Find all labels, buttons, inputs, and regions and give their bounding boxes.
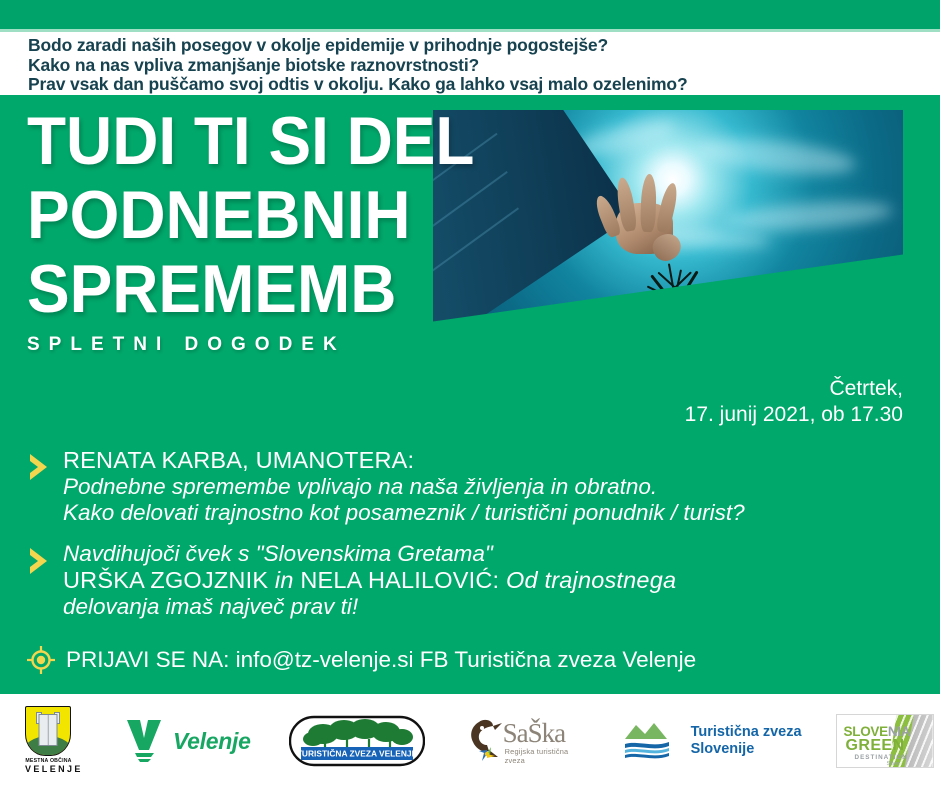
program-entry-1-desc-2: Kako delovati trajnostno kot posameznik …	[63, 500, 917, 527]
logo-turisticna-zveza-velenje: TURISTIČNA ZVEZA VELENJE	[289, 715, 425, 767]
speaker-name-1: URŠKA ZGOJZNIK	[63, 567, 268, 593]
headline-line-3: SPREMEMB	[27, 252, 403, 326]
headline-line-1: TUDI TI SI DEL	[27, 104, 403, 178]
event-datetime: 17. junij 2021, ob 17.30	[685, 402, 903, 428]
question-line-3: Prav vsak dan puščamo svoj odtis v okolj…	[28, 75, 940, 95]
tzs-mountains-waves-icon	[623, 720, 681, 762]
crest-shield	[25, 706, 71, 756]
target-icon	[27, 646, 55, 674]
chevron-right-icon	[28, 547, 49, 575]
question-line-1: Bodo zaradi naših posegov v okolje epide…	[28, 36, 940, 56]
saska-wordmark: SaŠka	[503, 718, 566, 749]
question-line-2: Kako na nas vpliva zmanjšanje biotske ra…	[28, 56, 940, 76]
velenje-wordmark: Velenje	[173, 728, 251, 755]
sg-line-3: DESTINATION	[855, 754, 908, 761]
sg-line-4: Silver	[887, 761, 900, 767]
speaker-conjunction: in	[268, 567, 300, 593]
logo-mestna-obcina-velenje: MESTNA OBČINA VELENJE	[25, 706, 72, 776]
question-band: Bodo zaradi naših posegov v okolje epide…	[0, 32, 940, 95]
finger	[640, 173, 657, 231]
footer-logo-bar: MESTNA OBČINA VELENJE Velenje	[0, 694, 940, 788]
sleeve-fold	[433, 171, 508, 286]
signup-row[interactable]: PRIJAVI SE NA: info@tz-velenje.si FB Tur…	[27, 646, 696, 674]
event-date-block: Četrtek, 17. junij 2021, ob 17.30	[685, 376, 903, 428]
program-entry-1-speaker: RENATA KARBA, UMANOTERA:	[63, 447, 917, 474]
program-entry-1: RENATA KARBA, UMANOTERA: Podnebne spreme…	[27, 447, 917, 527]
signup-text[interactable]: PRIJAVI SE NA: info@tz-velenje.si FB Tur…	[66, 647, 696, 673]
program-entry-2-desc-2: delovanja imaš največ prav ti!	[63, 594, 917, 621]
program-entry-2: Navdihujoči čvek s "Slovenskima Gretama"…	[27, 541, 917, 621]
tzs-line-2: Slovenije	[691, 741, 755, 757]
headline-subtitle: SPLETNI DOGODEK	[27, 334, 427, 356]
speaker-name-2: NELA HALILOVIĆ:	[300, 567, 506, 593]
program-entry-2-title: Navdihujoči čvek s "Slovenskima Gretama"	[63, 541, 917, 568]
crest-tower-center	[39, 714, 58, 747]
tzv-wordmark: TURISTIČNA ZVEZA VELENJE	[296, 748, 417, 759]
hero-photo	[433, 110, 903, 368]
program-entry-2-speakers: URŠKA ZGOJZNIK in NELA HALILOVIĆ: Od tra…	[63, 567, 917, 594]
velenje-v-icon	[124, 718, 164, 764]
hand	[607, 172, 682, 255]
program-entry-1-desc-1: Podnebne spremembe vplivajo na naša živl…	[63, 474, 917, 501]
headline-line-2: PODNEBNIH	[27, 178, 403, 252]
headline-block: TUDI TI SI DEL PODNEBNIH SPREMEMB SPLETN…	[27, 104, 427, 356]
logo-turisticna-zveza-slovenije: Turistična zveza Slovenije	[623, 720, 802, 762]
tzs-line-1: Turistična zveza	[691, 724, 802, 740]
tzs-wordmark: Turistična zveza Slovenije	[691, 724, 802, 758]
logo-saska: SaŠka Regijska turistična zveza	[467, 714, 587, 768]
program-entry-2-desc-1: Od trajnostnega	[506, 567, 676, 593]
poster-root: Bodo zaradi naših posegov v okolje epide…	[0, 0, 940, 788]
saska-subtitle: Regijska turistična zveza	[505, 747, 587, 765]
logo-slovenia-green-destination: SLOVENIA GREEN DESTINATION Silver	[836, 714, 934, 768]
chevron-right-icon	[28, 453, 49, 481]
sg-line-2: GREEN	[846, 737, 905, 755]
crest-label-line2: VELENJE	[25, 764, 72, 774]
top-green-band	[0, 0, 940, 29]
event-weekday: Četrtek,	[685, 376, 903, 402]
program-list: RENATA KARBA, UMANOTERA: Podnebne spreme…	[27, 447, 917, 634]
logo-velenje: Velenje	[124, 718, 251, 764]
sleeve-fold	[433, 208, 518, 308]
